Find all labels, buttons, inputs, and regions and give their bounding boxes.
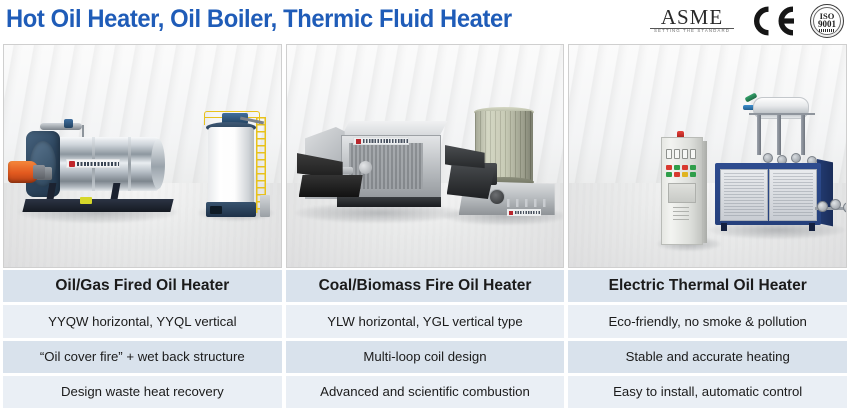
meter-1 — [666, 149, 672, 159]
furnace-door — [489, 189, 505, 205]
electrical-control-cabinet — [661, 131, 707, 245]
door-mesh — [773, 173, 813, 217]
indicator-red — [666, 165, 672, 170]
iso-number: 9001 — [810, 21, 844, 29]
ash-chute — [447, 165, 495, 199]
gallery-item-coal-biomass[interactable] — [286, 44, 565, 268]
gallery-item-electric[interactable] — [568, 44, 847, 268]
manufacturer-nameplate — [353, 137, 409, 145]
feature-cell: YYQW horizontal, YYQL vertical — [3, 305, 282, 337]
meter-2 — [674, 149, 680, 159]
electric-heater-skid — [709, 93, 846, 249]
yellow-tag — [80, 197, 92, 204]
feature-cell: YLW horizontal, YGL vertical type — [286, 305, 565, 337]
feature-cell: Stable and accurate heating — [568, 341, 847, 373]
asme-icon: ASME Setting the standard — [646, 4, 738, 38]
column-header-electric: Electric Thermal Oil Heater — [568, 270, 847, 302]
product-comparison-banner: Hot Oil Heater, Oil Boiler, Thermic Flui… — [0, 0, 850, 410]
boiler-top-drum — [40, 123, 82, 130]
control-subpanel — [668, 183, 696, 203]
manufacturer-nameplate — [66, 159, 120, 168]
feature-cell: Eco-friendly, no smoke & pollution — [568, 305, 847, 337]
tank-side-cabinet — [260, 195, 270, 217]
boiler-base-frame — [337, 197, 441, 207]
meter-4 — [690, 149, 696, 159]
side-valve-1 — [817, 201, 828, 212]
product-photo-strip — [3, 44, 847, 268]
vertical-thermal-oil-tank — [200, 103, 270, 223]
valve-manifold-side — [815, 197, 846, 223]
skid-foot-1 — [721, 223, 727, 231]
indicator-green — [666, 172, 672, 177]
column-header-coal-biomass: Coal/Biomass Fire Oil Heater — [286, 270, 565, 302]
boiler-valve — [64, 119, 73, 128]
iso9001-icon: ISO 9001 — [810, 4, 844, 38]
ce-icon — [752, 6, 796, 36]
cabinet-door-left — [720, 169, 768, 221]
boiler-pipe — [82, 125, 84, 137]
valve-3 — [791, 153, 801, 163]
gallery-item-oil-gas[interactable] — [3, 44, 282, 268]
boiler-leg-1 — [47, 183, 57, 199]
iso-label: ISO 9001 — [810, 13, 844, 28]
indicator-amber — [682, 172, 688, 177]
banner-header: Hot Oil Heater, Oil Boiler, Thermic Flui… — [0, 0, 850, 42]
indicator-red — [682, 165, 688, 170]
chain-grate — [299, 175, 363, 197]
indicator-lights — [666, 165, 696, 177]
door-mesh — [724, 173, 764, 217]
shell-band-2 — [128, 137, 131, 191]
indicator-green — [674, 165, 680, 170]
tank-base — [206, 202, 256, 217]
panel-meters — [666, 149, 696, 159]
studio-scene-3 — [569, 45, 846, 267]
tank-body — [208, 127, 254, 211]
column-header-oil-gas: Oil/Gas Fired Oil Heater — [3, 270, 282, 302]
cabinet-vent-slots — [673, 207, 689, 223]
studio-scene-2 — [287, 45, 564, 267]
indicator-row-1 — [666, 165, 696, 170]
certification-logos: ASME Setting the standard ISO 9001 — [646, 3, 844, 39]
vertical-biomass-oil-heater — [445, 101, 564, 231]
feature-cell: Design waste heat recovery — [3, 376, 282, 408]
orange-burner — [8, 161, 38, 183]
feature-comparison-table: Oil/Gas Fired Oil Heater YYQW horizontal… — [3, 270, 847, 408]
cabinet-door-right — [769, 169, 817, 221]
inspection-port — [359, 161, 372, 174]
iso-barcode — [819, 29, 835, 32]
valve-1 — [763, 153, 773, 163]
indicator-red — [674, 172, 680, 177]
asme-tagline: Setting the standard — [646, 28, 738, 33]
page-title: Hot Oil Heater, Oil Boiler, Thermic Flui… — [6, 4, 512, 34]
indicator-row-2 — [666, 172, 696, 177]
coal-fired-boiler — [297, 119, 457, 229]
comparison-column-electric: Electric Thermal Oil Heater Eco-friendly… — [568, 270, 847, 408]
manufacturer-nameplate — [507, 209, 541, 216]
skid-foot-2 — [809, 223, 815, 231]
feature-cell: Advanced and scientific combustion — [286, 376, 565, 408]
control-knobs — [507, 199, 547, 207]
boiler-leg-2 — [111, 183, 121, 199]
feature-cell: Multi-loop coil design — [286, 341, 565, 373]
meter-3 — [682, 149, 688, 159]
asme-wordmark: ASME — [646, 5, 738, 30]
horizontal-oil-gas-boiler — [20, 123, 170, 215]
indicator-green — [690, 172, 696, 177]
boiler-skid-base — [22, 199, 173, 212]
feature-cell: Easy to install, automatic control — [568, 376, 847, 408]
side-valve-3 — [843, 202, 846, 213]
studio-scene-1 — [4, 45, 281, 267]
comparison-column-coal-biomass: Coal/Biomass Fire Oil Heater YLW horizon… — [286, 270, 565, 408]
feature-cell: “Oil cover fire” + wet back structure — [3, 341, 282, 373]
comparison-column-oil-gas: Oil/Gas Fired Oil Heater YYQW horizontal… — [3, 270, 282, 408]
indicator-green — [690, 165, 696, 170]
